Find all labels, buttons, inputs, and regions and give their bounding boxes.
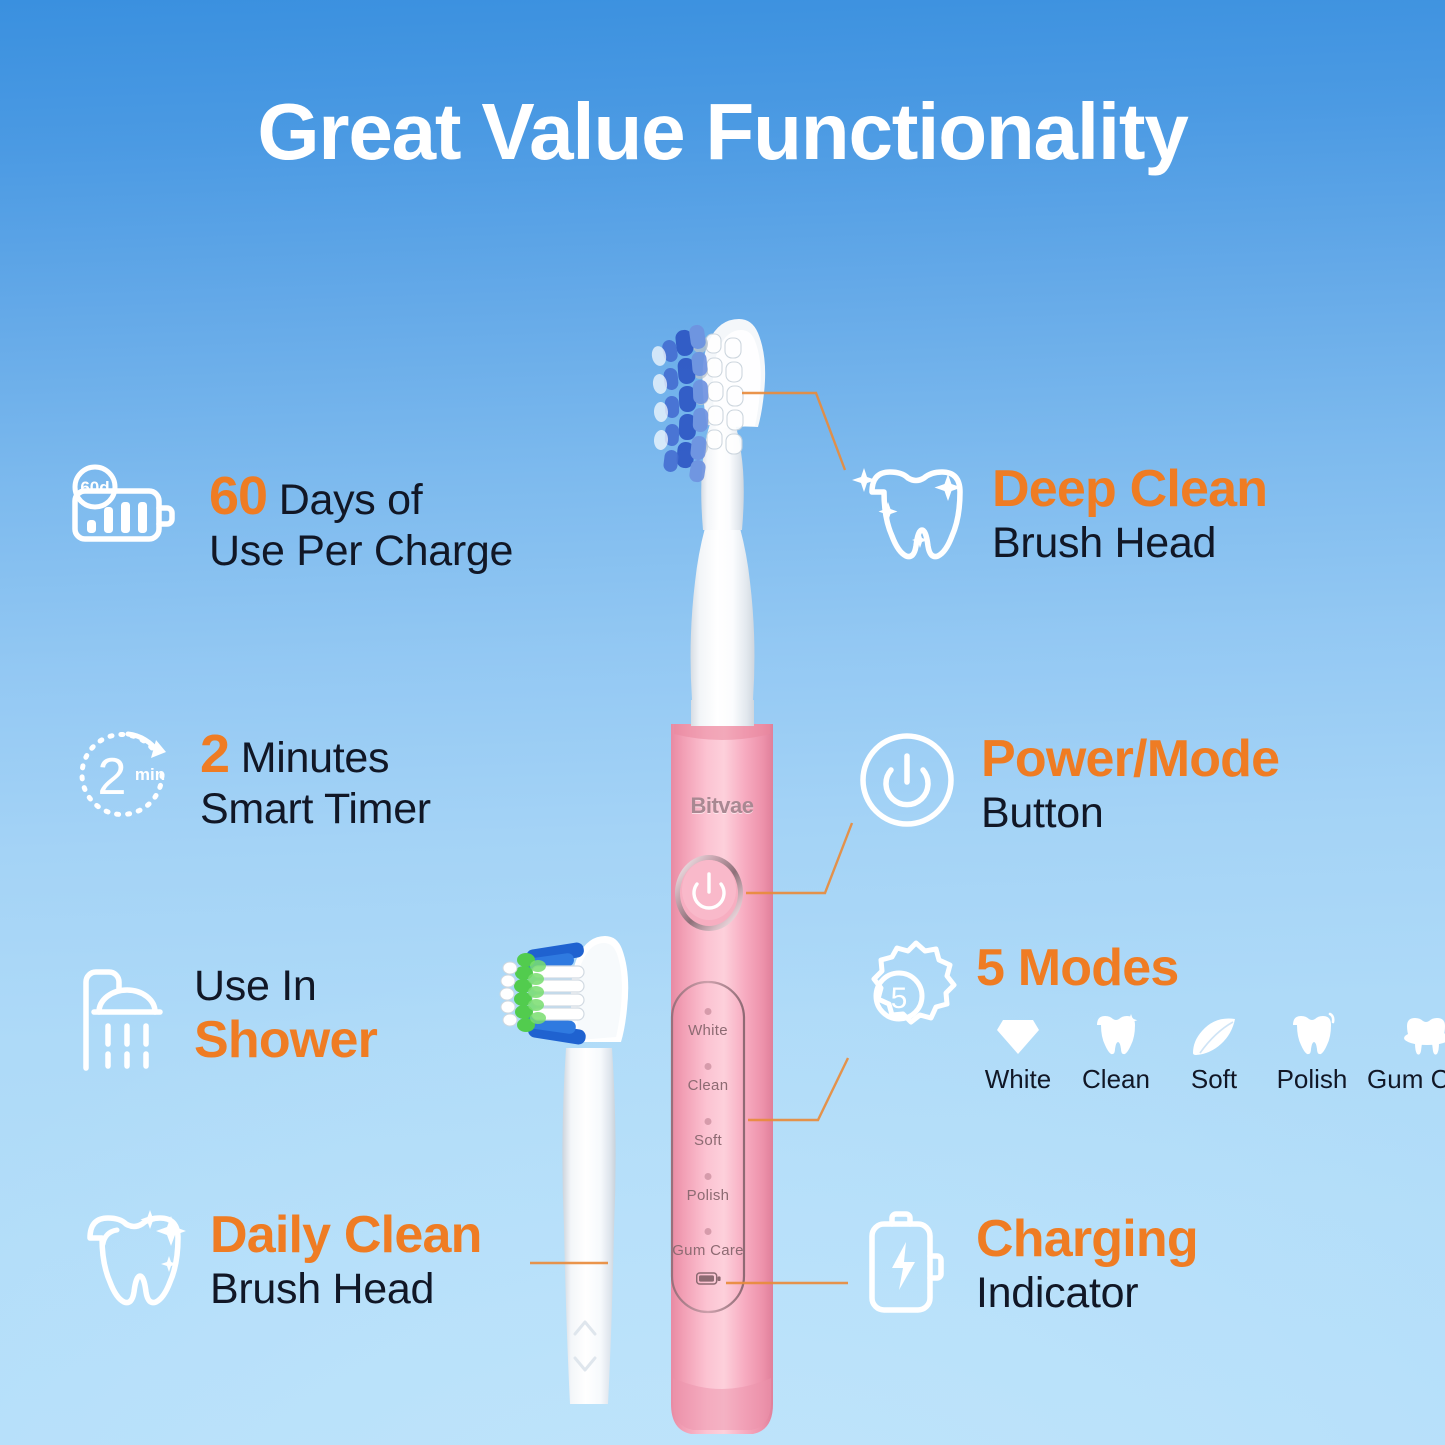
label-days-of: Days of: [267, 476, 422, 524]
diamond-icon: [994, 1012, 1042, 1058]
feature-power-mode-text: Power/Mode Button: [981, 728, 1279, 837]
mode-label-white: White: [985, 1064, 1051, 1095]
label-brush-head-deep: Brush Head: [992, 519, 1267, 568]
mode-led-gum-care: [705, 1228, 712, 1235]
feature-daily-clean: Daily Clean Brush Head: [70, 1204, 482, 1313]
mode-icon-row: White Clean: [976, 1012, 1445, 1095]
power-button-icon: [855, 728, 959, 832]
mode-led-polish: [705, 1173, 712, 1180]
gear-5-icon: 5: [848, 938, 958, 1050]
mode-item-clean: Clean: [1074, 1012, 1158, 1095]
handle-mode-label-white: White: [688, 1022, 728, 1039]
handle-brand-logo: Bitvae: [690, 793, 753, 819]
value-2: 2: [200, 724, 229, 784]
mode-led-white: [705, 1008, 712, 1015]
label-daily-clean: Daily Clean: [210, 1206, 482, 1265]
product-infographic: Great Value Functionality: [0, 0, 1445, 1445]
mode-item-gum-care: Gum Care: [1368, 1012, 1445, 1095]
feature-deep-clean-text: Deep Clean Brush Head: [992, 458, 1267, 567]
feature-shower: Use In Shower: [72, 960, 377, 1072]
handle-mode-label-soft: Soft: [694, 1132, 722, 1149]
label-shower: Shower: [194, 1011, 377, 1070]
handle-mode-label-polish: Polish: [687, 1187, 730, 1204]
mode-led-soft: [705, 1118, 712, 1125]
label-power-mode: Power/Mode: [981, 730, 1279, 789]
gums-icon: [1400, 1012, 1445, 1058]
battery-charging-icon: [862, 1208, 954, 1316]
label-button: Button: [981, 789, 1279, 838]
feature-charging: Charging Indicator: [862, 1208, 1198, 1317]
label-deep-clean: Deep Clean: [992, 460, 1267, 519]
label-minutes: Minutes: [229, 734, 389, 782]
svg-text:2: 2: [98, 748, 127, 806]
svg-text:min: min: [135, 765, 165, 784]
handle-battery-indicator: [696, 1272, 722, 1286]
tooth-sparkle-icon: [1092, 1012, 1140, 1058]
feature-deep-clean: Deep Clean Brush Head: [852, 458, 1267, 567]
label-indicator: Indicator: [976, 1269, 1198, 1318]
feature-2-minutes-text: 2 Minutes Smart Timer: [200, 722, 431, 834]
mode-label-polish: Polish: [1277, 1064, 1348, 1095]
feature-5-modes: 5 5 Modes White: [848, 938, 1445, 1095]
label-brush-head-daily: Brush Head: [210, 1265, 482, 1314]
mode-item-white: White: [976, 1012, 1060, 1095]
mode-led-clean: [705, 1063, 712, 1070]
feature-power-mode: Power/Mode Button: [855, 728, 1279, 837]
mode-item-soft: Soft: [1172, 1012, 1256, 1095]
mode-item-polish: Polish: [1270, 1012, 1354, 1095]
handle-mode-label-clean: Clean: [688, 1077, 729, 1094]
battery-60d-icon: 60d: [62, 464, 187, 554]
svg-text:60d: 60d: [80, 478, 109, 497]
feature-60-days-text: 60 Days of Use Per Charge: [209, 464, 513, 576]
mode-label-clean: Clean: [1082, 1064, 1150, 1095]
timer-2min-icon: 2 min: [68, 722, 178, 830]
feature-shower-text: Use In Shower: [194, 960, 377, 1069]
mode-label-soft: Soft: [1191, 1064, 1237, 1095]
feature-daily-clean-text: Daily Clean Brush Head: [210, 1204, 482, 1313]
spare-brush-head: [470, 930, 690, 1410]
label-charging: Charging: [976, 1210, 1198, 1269]
label-5-modes: 5 Modes: [976, 942, 1445, 994]
toothbrush-neck: [691, 528, 755, 700]
shower-icon: [72, 960, 172, 1072]
label-use-in: Use In: [194, 962, 377, 1011]
tooth-icon: [1288, 1012, 1336, 1058]
feather-icon: [1189, 1012, 1239, 1058]
label-use-per-charge: Use Per Charge: [209, 527, 513, 576]
value-60: 60: [209, 466, 267, 526]
svg-text:5: 5: [891, 982, 908, 1015]
tooth-sparkle-icon: [852, 458, 970, 566]
mode-label-gum-care: Gum Care: [1367, 1064, 1445, 1095]
label-smart-timer: Smart Timer: [200, 785, 431, 834]
feature-2-minutes: 2 min 2 Minutes Smart Timer: [68, 722, 431, 834]
feature-60-days: 60d 60 Days of Use Per Charge: [62, 464, 513, 576]
tooth-sparkle-icon: [70, 1204, 188, 1312]
feature-charging-text: Charging Indicator: [976, 1208, 1198, 1317]
